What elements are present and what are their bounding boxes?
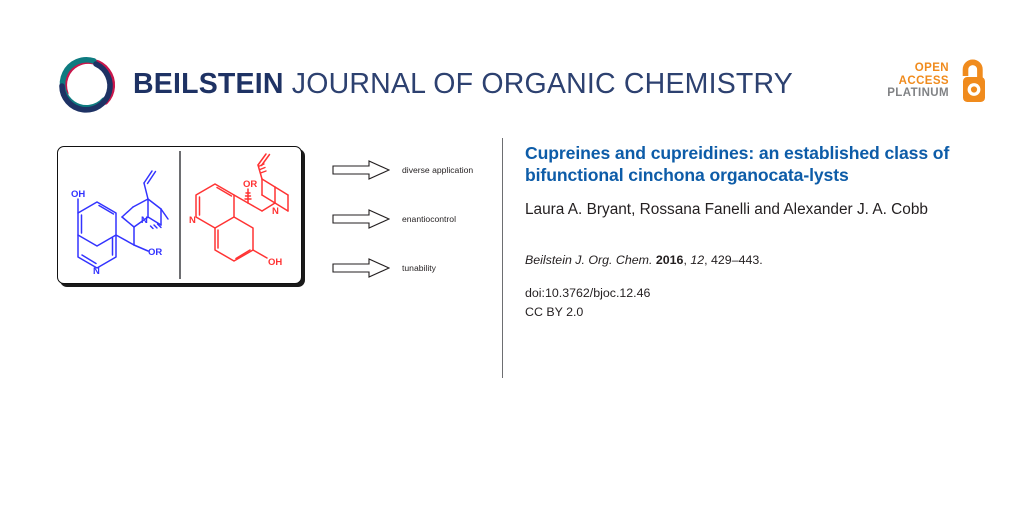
citation-pages: 429–443. [711, 253, 763, 267]
property-row-diverse-application: diverse application [332, 160, 492, 180]
property-arrow-list: diverse application enantiocontrol tunab… [332, 160, 492, 307]
block-arrow-icon [332, 209, 390, 229]
article-license[interactable]: CC BY 2.0 [525, 303, 965, 322]
property-label: diverse application [402, 165, 473, 175]
content-vertical-divider [502, 138, 503, 378]
graphical-abstract-box: OH N N OR [57, 146, 302, 284]
journal-header: BEILSTEIN JOURNAL OF ORGANIC CHEMISTRY O… [0, 0, 1024, 136]
cupreine-structure: OH N N OR [60, 147, 179, 281]
structure-label-n-quinuclidine: N [141, 215, 148, 226]
abstract-vertical-divider [179, 151, 181, 279]
citation-volume: 12 [690, 253, 704, 267]
article-citation: Beilstein J. Org. Chem. 2016, 12, 429–44… [525, 252, 965, 268]
property-label: enantiocontrol [402, 214, 456, 224]
citation-journal: Beilstein J. Org. Chem. [525, 253, 652, 267]
block-arrow-icon [332, 160, 390, 180]
property-row-enantiocontrol: enantiocontrol [332, 209, 492, 229]
beilstein-triple-arc-logo-icon [56, 54, 118, 116]
article-title[interactable]: Cupreines and cupreidines: an establishe… [525, 143, 965, 186]
open-access-badge: OPEN ACCESS PLATINUM [887, 58, 989, 104]
open-access-line-platinum: PLATINUM [887, 87, 949, 100]
structure-label-or: OR [243, 179, 257, 190]
open-access-line-open: OPEN [887, 62, 949, 75]
property-label: tunability [402, 263, 436, 273]
structure-label-oh: OH [268, 257, 282, 268]
citation-year: 2016 [656, 253, 684, 267]
property-row-tunability: tunability [332, 258, 492, 278]
wordmark-bold: BEILSTEIN [133, 68, 284, 100]
structure-label-n-quinoline: N [93, 266, 100, 277]
block-arrow-icon [332, 258, 390, 278]
cupreidine-structure: OR N N OH [182, 147, 301, 281]
open-access-text: OPEN ACCESS PLATINUM [887, 62, 949, 101]
structure-label-n-quinuclidine: N [272, 206, 279, 217]
article-doi[interactable]: doi:10.3762/bjoc.12.46 [525, 284, 965, 303]
open-access-line-access: ACCESS [887, 75, 949, 88]
citation-sep-3: , [704, 253, 711, 267]
structure-label-n-quinoline: N [189, 215, 196, 226]
article-metadata: Cupreines and cupreidines: an establishe… [525, 143, 965, 322]
journal-wordmark: BEILSTEIN JOURNAL OF ORGANIC CHEMISTRY [133, 68, 793, 101]
open-padlock-icon [955, 58, 989, 104]
structure-label-or: OR [148, 247, 162, 258]
structure-label-oh: OH [71, 189, 85, 200]
article-authors: Laura A. Bryant, Rossana Fanelli and Ale… [525, 200, 965, 220]
wordmark-light: JOURNAL OF ORGANIC CHEMISTRY [284, 68, 793, 100]
